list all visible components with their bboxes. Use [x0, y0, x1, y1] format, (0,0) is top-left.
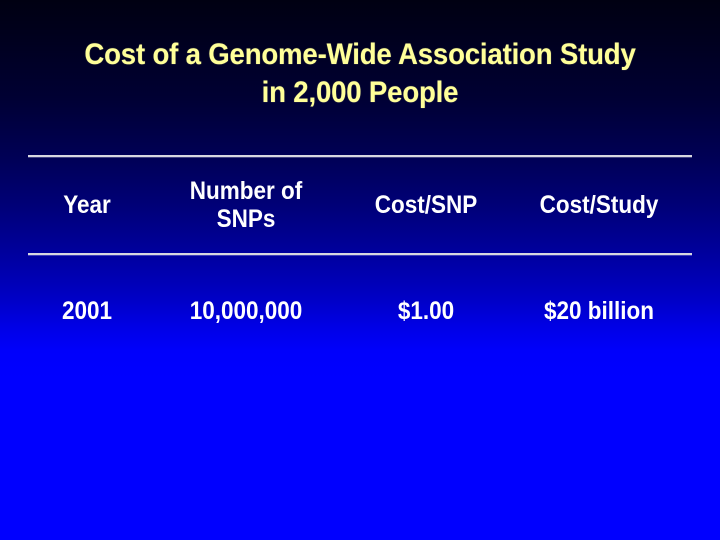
- column-header-cost-per-study: Cost/Study: [515, 191, 682, 219]
- cell-year: 2001: [34, 297, 140, 326]
- slide-title: Cost of a Genome-Wide Association Study …: [29, 36, 691, 112]
- slide-title-line-2: in 2,000 People: [29, 74, 691, 112]
- column-header-year: Year: [34, 191, 140, 219]
- column-header-cost-per-snp: Cost/SNP: [354, 191, 498, 219]
- cell-number-of-snps: 10,000,000: [156, 297, 336, 326]
- column-header-number-of-snps: Number of SNPs: [156, 177, 336, 233]
- table-row: 2001 10,000,000 $1.00 $20 billion: [28, 283, 692, 339]
- table-header-rule: [28, 253, 692, 255]
- presentation-slide: Cost of a Genome-Wide Association Study …: [0, 0, 720, 540]
- data-table: Year Number of SNPs Cost/SNP Cost/Study …: [28, 155, 692, 339]
- cell-cost-per-snp: $1.00: [354, 297, 498, 326]
- cell-cost-per-study: $20 billion: [515, 297, 682, 326]
- table-header-row: Year Number of SNPs Cost/SNP Cost/Study: [28, 157, 692, 253]
- slide-title-line-1: Cost of a Genome-Wide Association Study: [29, 36, 691, 74]
